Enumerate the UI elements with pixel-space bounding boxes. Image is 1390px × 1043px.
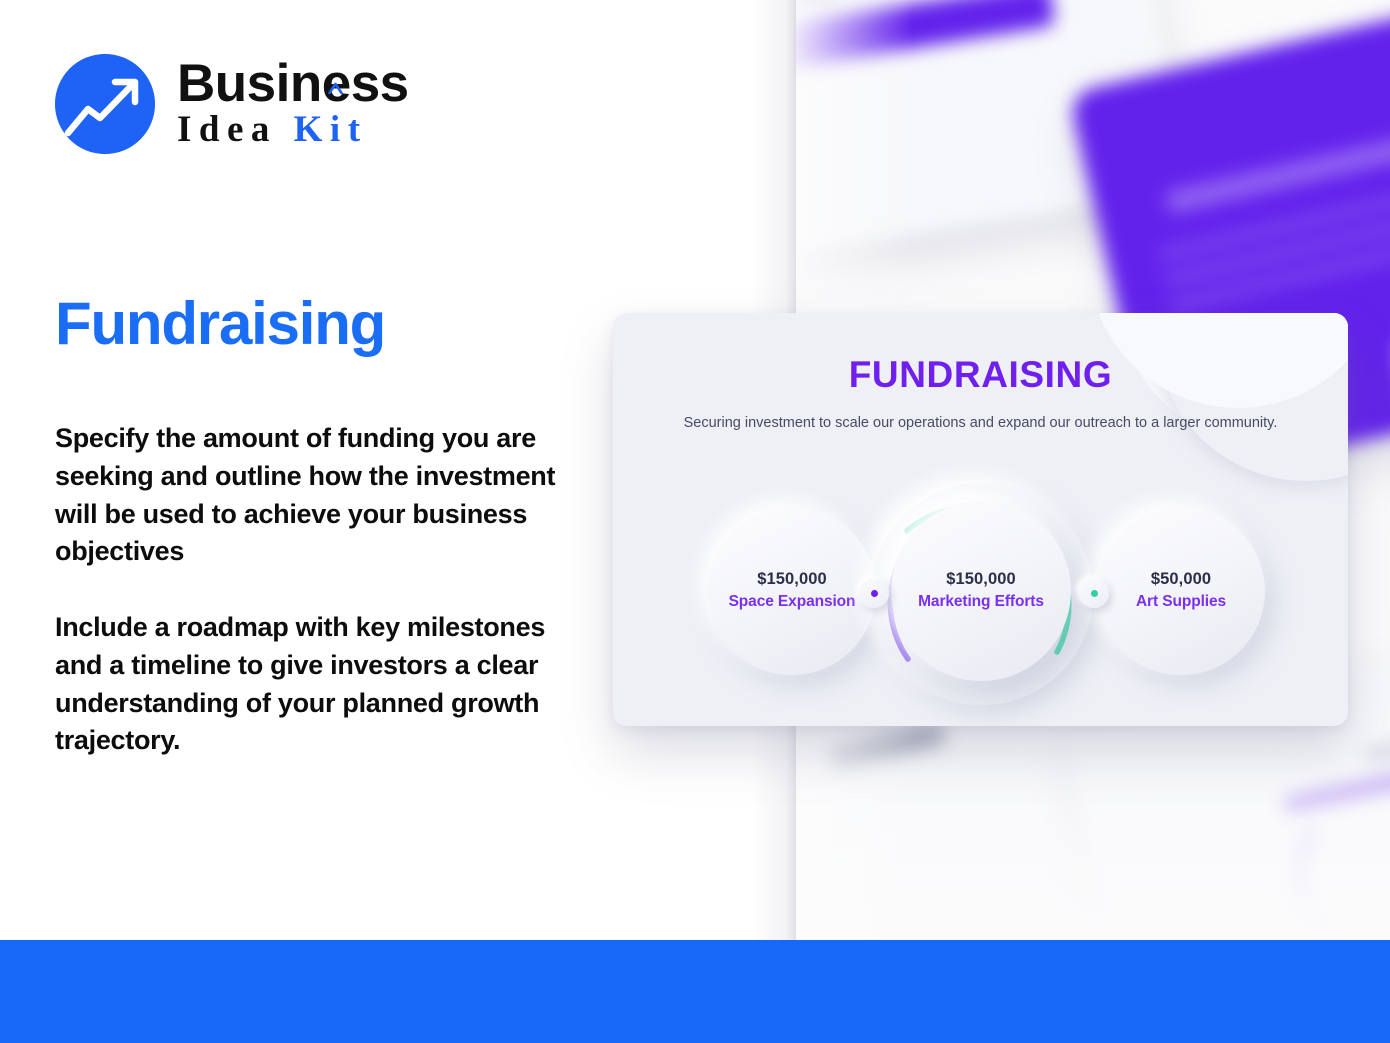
circumflex-accent-icon (328, 52, 343, 64)
page-title: Fundraising (55, 294, 385, 354)
funding-amount: $50,000 (1151, 569, 1211, 590)
brand-name-line2: Idea Kit (177, 109, 409, 150)
connector-node-right (1079, 578, 1109, 608)
funding-label: Art Supplies (1136, 590, 1226, 613)
connector-node-left (859, 578, 889, 608)
funding-item-space-expansion[interactable]: $150,000 Space Expansion (708, 507, 876, 675)
funding-item-marketing-efforts[interactable]: $150,000 Marketing Efforts (891, 501, 1071, 681)
green-dot-icon (1091, 590, 1098, 597)
brand-name-line1: Business (177, 59, 409, 109)
funding-amount: $150,000 (946, 569, 1016, 590)
funding-label: Space Expansion (729, 590, 856, 613)
brand-logo[interactable]: Business Idea Kit (55, 54, 409, 154)
purple-dot-icon (871, 590, 878, 597)
funding-label: Marketing Efforts (918, 590, 1044, 613)
card-decoration-ring-mid (1156, 313, 1348, 481)
brand-kit-text: Kit (294, 109, 368, 150)
funding-amount: $150,000 (757, 569, 827, 590)
description-paragraph-2: Include a roadmap with key milestones an… (55, 609, 575, 760)
slide-subtitle: Securing investment to scale our operati… (613, 413, 1348, 434)
funding-item-art-supplies[interactable]: $50,000 Art Supplies (1097, 507, 1265, 675)
growth-arrow-icon (55, 54, 155, 154)
footer-bar (0, 940, 1390, 1043)
brand-name-text: Business (177, 54, 409, 113)
fundraising-slide-card[interactable]: FUNDRAISING Securing investment to scale… (613, 313, 1348, 726)
funding-breakdown-group: $150,000 Space Expansion $150,000 Market… (613, 481, 1348, 717)
slide-title: FUNDRAISING (613, 354, 1348, 396)
slide-page: Business Idea Kit Fundraising Specify th… (0, 0, 1390, 1043)
description-paragraph-1: Specify the amount of funding you are se… (55, 420, 575, 571)
brand-idea-text: Idea (177, 109, 277, 150)
brand-wordmark: Business Idea Kit (177, 57, 409, 151)
